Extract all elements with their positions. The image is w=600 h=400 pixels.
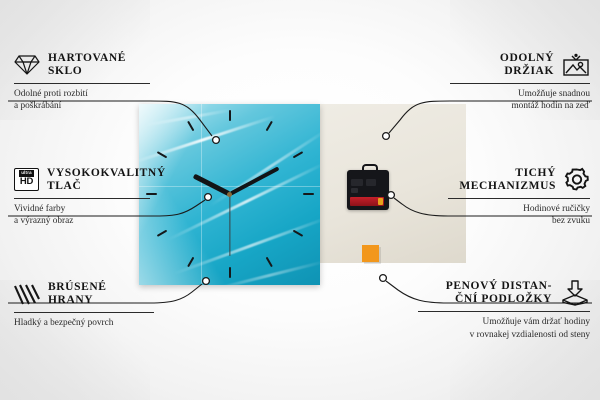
feature-title-line1: TICHÝ (459, 167, 556, 180)
connector-dot-foam-pads (380, 275, 387, 282)
feature-title-line1: VYSOKOKVALITNÝ (47, 167, 166, 180)
infographic-canvas: HARTOVANÉ SKLO Odolné proti rozbití a po… (0, 0, 600, 400)
feature-description: Umožňuje snadnou montáž hodin na zeď (450, 88, 590, 113)
ultra-hd-icon: ultra HD (14, 168, 39, 191)
feature-title-line2: TLAČ (47, 180, 166, 193)
feature-title-line1: HARTOVANÉ (48, 52, 126, 65)
picture-hanger-icon (562, 53, 590, 77)
feature-hardened-glass: HARTOVANÉ SKLO Odolné proti rozbití a po… (14, 52, 150, 113)
connector-dot-hd-print (205, 194, 212, 201)
divider (418, 311, 590, 312)
beveled-edge-icon (14, 283, 40, 305)
feature-title-line2: DRŽIAK (500, 65, 554, 78)
feature-silent-mechanism: TICHÝ MECHANIZMUS Hodinové ručičky bez z… (448, 167, 590, 228)
divider (14, 312, 154, 313)
connector-dot-hardened-glass (213, 137, 220, 144)
divider (14, 198, 150, 199)
feature-description: Hladký a bezpečný povrch (14, 317, 154, 330)
ultra-hd-badge-bottom: HD (20, 177, 33, 187)
feature-title-line2: ČNÍ PODLOŽKY (446, 293, 552, 306)
feature-description: Vividné farby a výrazný obraz (14, 203, 150, 228)
feature-description: Hodinové ručičky bez zvuku (448, 203, 590, 228)
feature-foam-spacers: PENOVÝ DISTAN- ČNÍ PODLOŽKY Umožňuje vám… (418, 280, 590, 341)
divider (450, 83, 590, 84)
connector-dot-holder (383, 133, 390, 140)
feature-title-line1: BRÚSENÉ (48, 281, 107, 294)
feature-title-line2: HRANY (48, 294, 107, 307)
feature-title-line1: PENOVÝ DISTAN- (446, 280, 552, 293)
feature-hd-print: ultra HD VYSOKOKVALITNÝ TLAČ Vividné far… (14, 167, 150, 228)
feature-durable-holder: ODOLNÝ DRŽIAK Umožňuje snadnou montáž ho… (450, 52, 590, 113)
diamond-icon (14, 54, 40, 76)
feature-description: Umožňuje vám držať hodiny v rovnakej vzd… (418, 316, 590, 341)
feature-title-line2: MECHANIZMUS (459, 180, 556, 193)
connector-dot-mechanism (388, 192, 395, 199)
feature-beveled-edges: BRÚSENÉ HRANY Hladký a bezpečný povrch (14, 281, 154, 329)
divider (14, 83, 150, 84)
connector-dot-beveled-edges (203, 278, 210, 285)
gear-icon (564, 167, 590, 192)
feature-title-line1: ODOLNÝ (500, 52, 554, 65)
feature-description: Odolné proti rozbití a poškrábání (14, 88, 150, 113)
foam-spacer-icon (560, 280, 590, 306)
divider (448, 198, 590, 199)
feature-title-line2: SKLO (48, 65, 126, 78)
